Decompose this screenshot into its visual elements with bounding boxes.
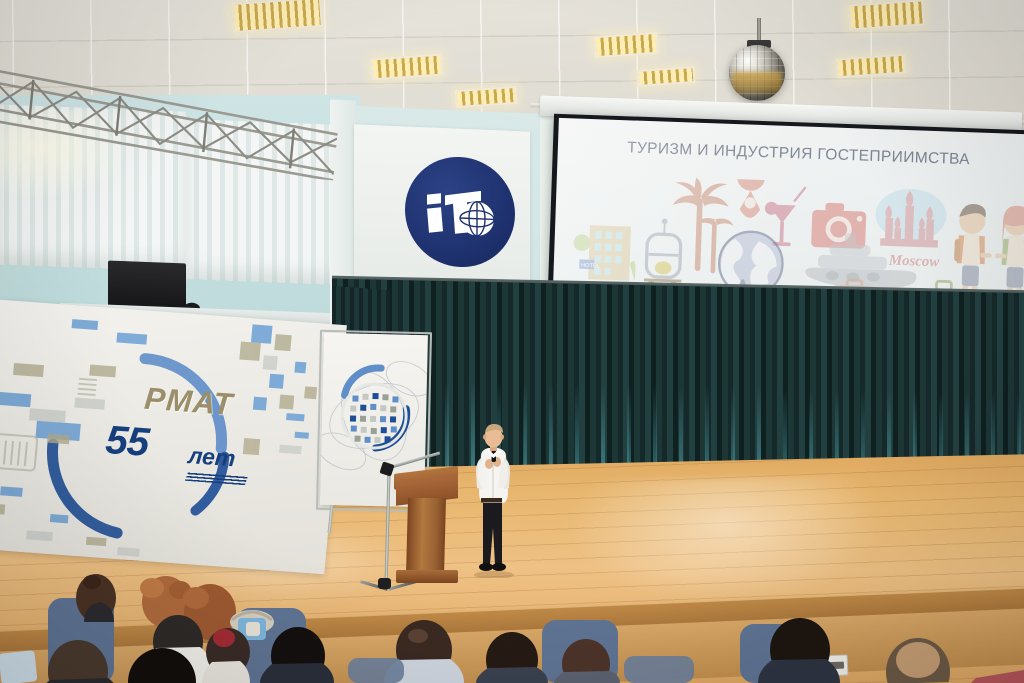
svg-text:HOTEL: HOTEL [581,262,600,269]
scene-photo: ТУРИЗМ И ИНДУСТРИЯ ГОСТЕПРИИМСТВА HOT [0,0,1024,683]
location-pin-icon [736,172,766,217]
slide-title: ТУРИЗМ И ИНДУСТРИЯ ГОСТЕПРИИМСТВА [586,138,1011,171]
ceiling-light-4 [593,32,658,58]
moscow-label: Moscow [888,252,940,270]
audience-seating [0,560,1024,683]
banner-years-number: 55 [104,418,150,466]
speaker-person [468,424,518,578]
banner-brand: РМАТ [143,381,235,423]
banner-decoration [0,300,347,574]
camera-icon [811,202,867,249]
tram-icon [644,217,684,288]
hotel-building-icon: HOTEL [572,224,637,280]
disco-ball [729,45,785,101]
banner-years-word: лет [187,442,237,472]
rmat-anniversary-banner: РМАТ 55 лет [0,300,347,574]
ceiling-light-6 [847,0,925,31]
